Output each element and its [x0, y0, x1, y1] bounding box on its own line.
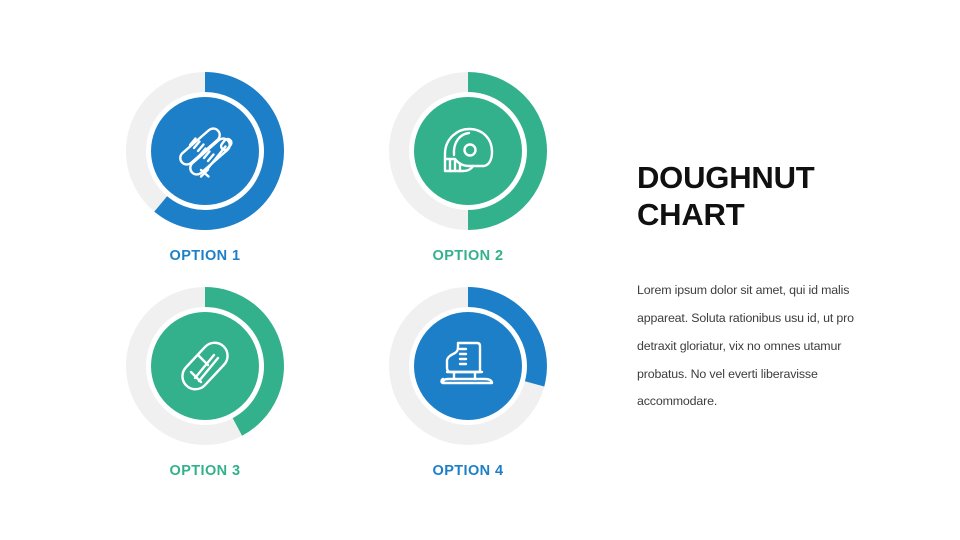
doughnut-label-option-2: OPTION 2: [353, 248, 583, 264]
page-title: DOUGHNUT CHART: [637, 160, 893, 233]
text-panel: DOUGHNUT CHART Lorem ipsum dolor sit ame…: [637, 160, 893, 416]
doughnut-ring-option-3[interactable]: [124, 285, 286, 447]
doughnut-item-option-3[interactable]: OPTION 3: [90, 285, 320, 500]
ice-skate-icon: [433, 331, 503, 401]
doughnut-label-option-1: OPTION 1: [90, 248, 320, 264]
snowboard-icon: [170, 331, 240, 401]
skis-icon: [170, 116, 240, 186]
doughnut-center-disc-option-2: [414, 97, 522, 205]
description-paragraph: Lorem ipsum dolor sit amet, qui id malis…: [637, 277, 893, 416]
doughnut-center-disc-option-4: [414, 312, 522, 420]
doughnut-item-option-1[interactable]: OPTION 1: [90, 70, 320, 285]
football-helmet-icon: [433, 116, 503, 186]
doughnut-item-option-4[interactable]: OPTION 4: [353, 285, 583, 500]
doughnut-label-option-4: OPTION 4: [353, 463, 583, 479]
doughnut-ring-option-1[interactable]: [124, 70, 286, 232]
doughnut-label-option-3: OPTION 3: [90, 463, 320, 479]
doughnut-ring-option-4[interactable]: [387, 285, 549, 447]
doughnut-chart-grid: OPTION 1: [70, 60, 590, 490]
slide-canvas: OPTION 1: [0, 0, 960, 540]
doughnut-center-disc-option-3: [151, 312, 259, 420]
doughnut-ring-option-2[interactable]: [387, 70, 549, 232]
doughnut-item-option-2[interactable]: OPTION 2: [353, 70, 583, 285]
doughnut-center-disc-option-1: [151, 97, 259, 205]
